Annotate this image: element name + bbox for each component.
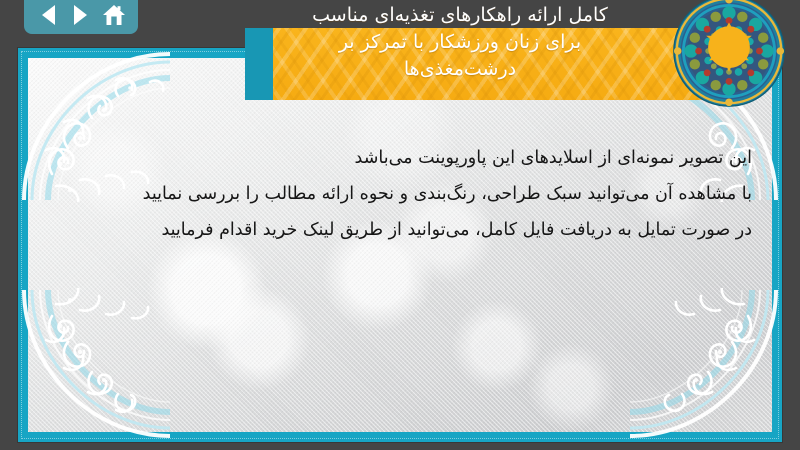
body-line-3: در صورت تمایل به دریافت فایل کامل، می‌تو… <box>62 212 752 248</box>
body-line-1: این تصویر نمونه‌ای از اسلایدهای این پاور… <box>62 140 752 176</box>
arrow-left-icon <box>42 5 55 25</box>
slide-frame: این تصویر نمونه‌ای از اسلایدهای این پاور… <box>18 48 782 442</box>
title-band-tab <box>245 28 273 100</box>
body-line-2: با مشاهده آن می‌توانید سبک طراحی، رنگ‌بن… <box>62 176 752 212</box>
presentation-viewer: این تصویر نمونه‌ای از اسلایدهای این پاور… <box>0 0 800 450</box>
title-band <box>250 28 730 100</box>
title-line-1: کامل ارائه راهکارهای تغذیه‌ای مناسب <box>250 2 670 29</box>
previous-slide-button[interactable] <box>34 2 62 28</box>
next-slide-button[interactable] <box>67 2 95 28</box>
persian-medallion-ornament-icon <box>672 0 786 108</box>
arrow-right-icon <box>74 5 87 25</box>
slide-body-text: این تصویر نمونه‌ای از اسلایدهای این پاور… <box>62 140 752 248</box>
navigation-toolbar <box>24 0 138 34</box>
home-icon <box>102 4 126 26</box>
home-button[interactable] <box>100 2 128 28</box>
